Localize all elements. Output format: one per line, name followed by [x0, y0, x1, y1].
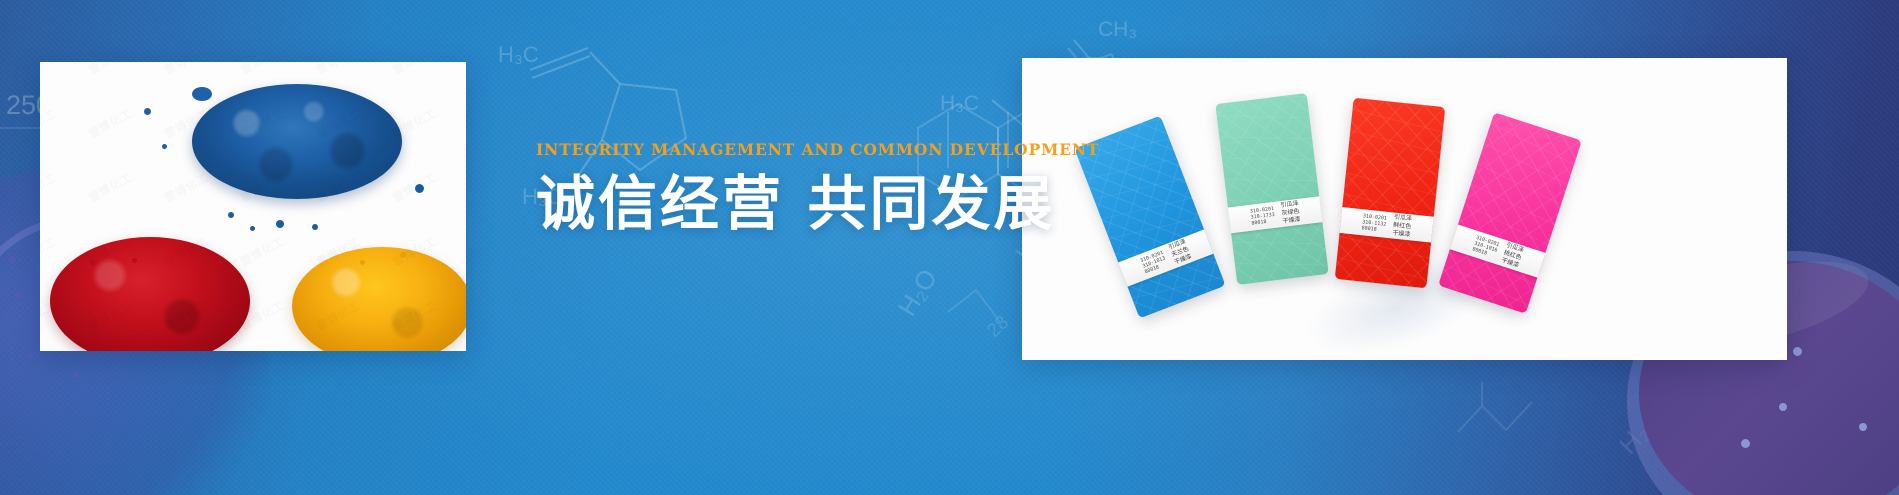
- blue-pigment-pile: [192, 84, 402, 199]
- petri-dot: [1741, 439, 1750, 448]
- color-sample-photo[interactable]: 310-0201 310-1013 80018 引瓜泽 天兰色 干燥漆 310-…: [1022, 58, 1787, 360]
- promo-banner: 250 H₃C H₃C: [0, 0, 1899, 495]
- h3c-label: H₃C: [940, 92, 979, 115]
- pigment-speck: [312, 224, 318, 230]
- pigment-speck: [228, 212, 234, 218]
- pigment-speck: [132, 258, 137, 263]
- headline-chinese: 诚信经营 共同发展: [536, 173, 1026, 236]
- decor-dot: [28, 352, 34, 358]
- pigment-speck: [90, 260, 95, 265]
- card-name-bottom: 干燥漆: [1392, 229, 1411, 239]
- card-label-codes: 310-0201 310-1132 80018: [1361, 213, 1387, 234]
- h2o-label-rotated: H₂O: [892, 264, 943, 322]
- card-label-names: 引瓜泽 灰绿色 干燥漆: [1280, 200, 1301, 225]
- red-color-card[interactable]: 310-0201 310-1132 80018 引瓜泽 鲜红色 干燥漆: [1335, 98, 1446, 289]
- petri-dot: [1779, 403, 1787, 411]
- card-lot: 80018: [1251, 218, 1276, 227]
- card-label-codes: 310-0201 310-1016 80018: [1471, 235, 1500, 260]
- decor-dot: [8, 256, 16, 264]
- pigment-powder-photo[interactable]: 雷博化工雷博化工雷博化工雷博化工雷博化工雷博化工雷博化工雷博化工雷博化工雷博化工…: [40, 62, 466, 351]
- small-number-label: 28: [983, 312, 1013, 342]
- pigment-speck: [415, 184, 424, 193]
- petri-dot: [1859, 423, 1867, 431]
- card-label-names: 引瓜泽 鲜红色 干燥漆: [1392, 214, 1412, 239]
- pigment-speck: [192, 87, 212, 101]
- pigment-speck: [360, 260, 365, 265]
- pigment-speck: [162, 144, 167, 149]
- decor-dot: [74, 372, 79, 377]
- petri-dot: [1793, 347, 1802, 356]
- pigment-speck: [144, 108, 151, 115]
- card-label-names: 引瓜泽 天兰色 干燥漆: [1168, 238, 1193, 266]
- card-label-names: 引瓜泽 桃红色 干燥漆: [1500, 242, 1524, 270]
- pigment-speck: [250, 226, 255, 231]
- h3c-label: H₃C: [498, 42, 539, 67]
- decor-dot: [14, 292, 21, 299]
- pigment-speck: [276, 220, 284, 228]
- ch3-label: CH₃: [1098, 18, 1137, 41]
- tagline-english: INTEGRITY MANAGEMENT AND COMMON DEVELOPM…: [536, 140, 1026, 159]
- small-molecule-decoration: [1448, 372, 1568, 462]
- card-label-codes: 310-0201 310-1013 80018: [1139, 249, 1168, 275]
- card-name-bottom: 干燥漆: [1282, 216, 1301, 226]
- banner-copy: INTEGRITY MANAGEMENT AND COMMON DEVELOPM…: [536, 140, 1026, 236]
- card-texture: [1335, 98, 1446, 289]
- pigment-speck: [400, 252, 406, 258]
- card-label-codes: 310-0201 310-1733 80018: [1250, 206, 1276, 228]
